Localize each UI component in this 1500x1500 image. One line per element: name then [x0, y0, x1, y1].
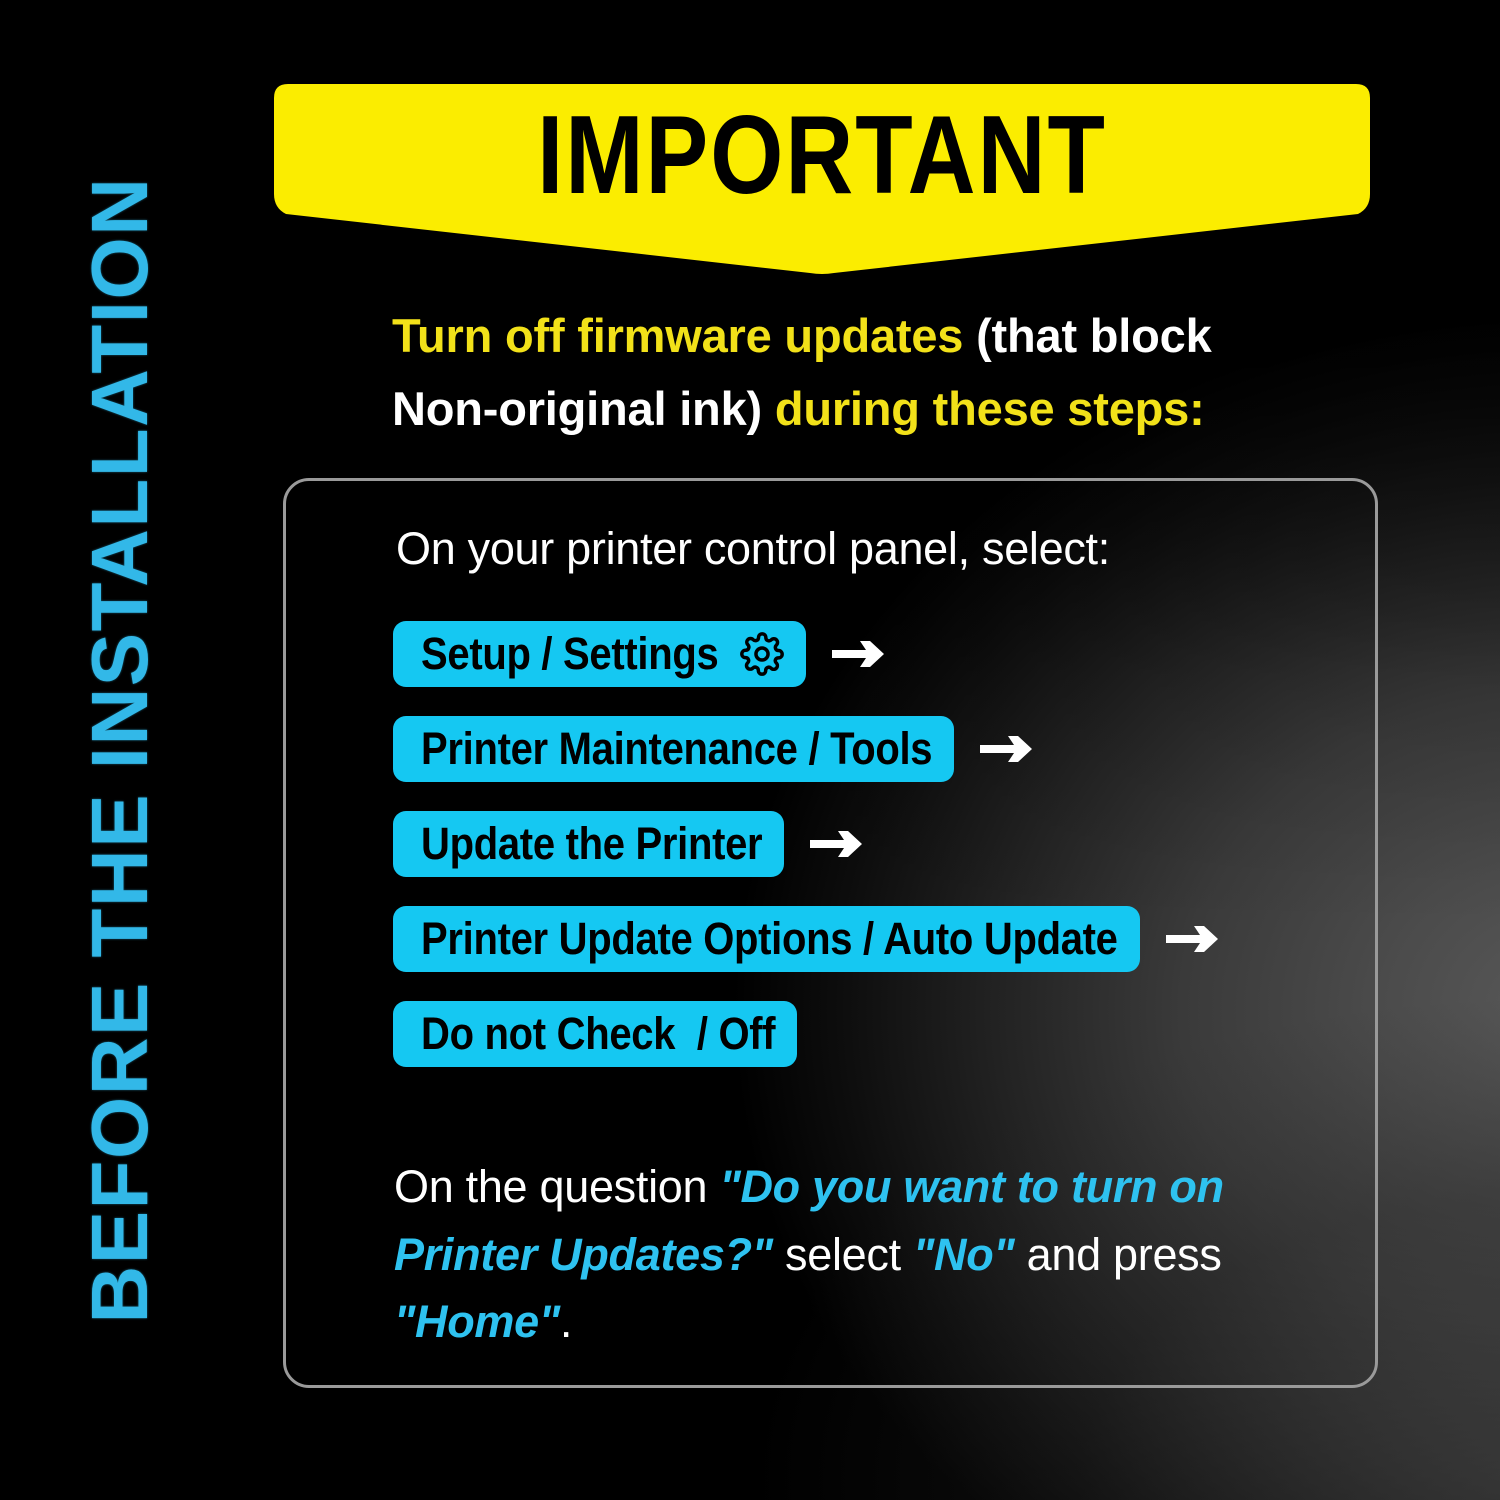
instruction-panel: On your printer control panel, select: S… [283, 478, 1378, 1388]
step-chip-label: Do not Check / Off [421, 1011, 775, 1057]
arrow-right-icon [978, 729, 1036, 769]
closing-quote-2: "No" [913, 1229, 1014, 1280]
important-banner: IMPORTANT [274, 84, 1370, 274]
headline-part1: Turn off firmware updates [392, 309, 976, 362]
closing-text-3: and press [1014, 1229, 1221, 1280]
step-chip-label: Setup / Settings [421, 631, 718, 677]
step-chip-printer-update-options-auto-update[interactable]: Printer Update Options / Auto Update [393, 906, 1140, 972]
side-title-text: BEFORE THE INSTALLATION [80, 176, 160, 1323]
headline-part3: during these steps: [762, 382, 1205, 435]
closing-text-4: . [560, 1296, 572, 1347]
step-chip-printer-maintenance-tools[interactable]: Printer Maintenance / Tools [393, 716, 954, 782]
step-row: Printer Update Options / Auto Update [393, 906, 1353, 972]
closing-text-2: select [773, 1229, 913, 1280]
headline: Turn off firmware updates (that block No… [392, 300, 1212, 446]
step-chip-do-not-check-off[interactable]: Do not Check / Off [393, 1001, 797, 1067]
arrow-right-icon [830, 634, 888, 674]
step-row: Printer Maintenance / Tools [393, 716, 1353, 782]
closing-paragraph: On the question "Do you want to turn on … [394, 1153, 1299, 1356]
step-chip-update-the-printer[interactable]: Update the Printer [393, 811, 784, 877]
panel-lead-text: On your printer control panel, select: [396, 523, 1110, 575]
gear-icon [740, 632, 784, 676]
step-list: Setup / Settings Pr [393, 621, 1353, 1096]
step-chip-label: Update the Printer [421, 821, 762, 867]
side-title: BEFORE THE INSTALLATION [0, 0, 240, 1500]
step-row: Setup / Settings [393, 621, 1353, 687]
step-row: Do not Check / Off [393, 1001, 1353, 1067]
step-chip-setup-settings[interactable]: Setup / Settings [393, 621, 806, 687]
closing-quote-3: "Home" [394, 1296, 560, 1347]
closing-text-1: On the question [394, 1161, 719, 1212]
step-chip-label: Printer Update Options / Auto Update [421, 916, 1118, 962]
step-chip-label: Printer Maintenance / Tools [421, 726, 932, 772]
arrow-right-icon [808, 824, 866, 864]
arrow-right-icon [1164, 919, 1222, 959]
step-row: Update the Printer [393, 811, 1353, 877]
poster-root: BEFORE THE INSTALLATION IMPORTANT Turn o… [0, 0, 1500, 1500]
important-banner-label: IMPORTANT [274, 100, 1370, 211]
